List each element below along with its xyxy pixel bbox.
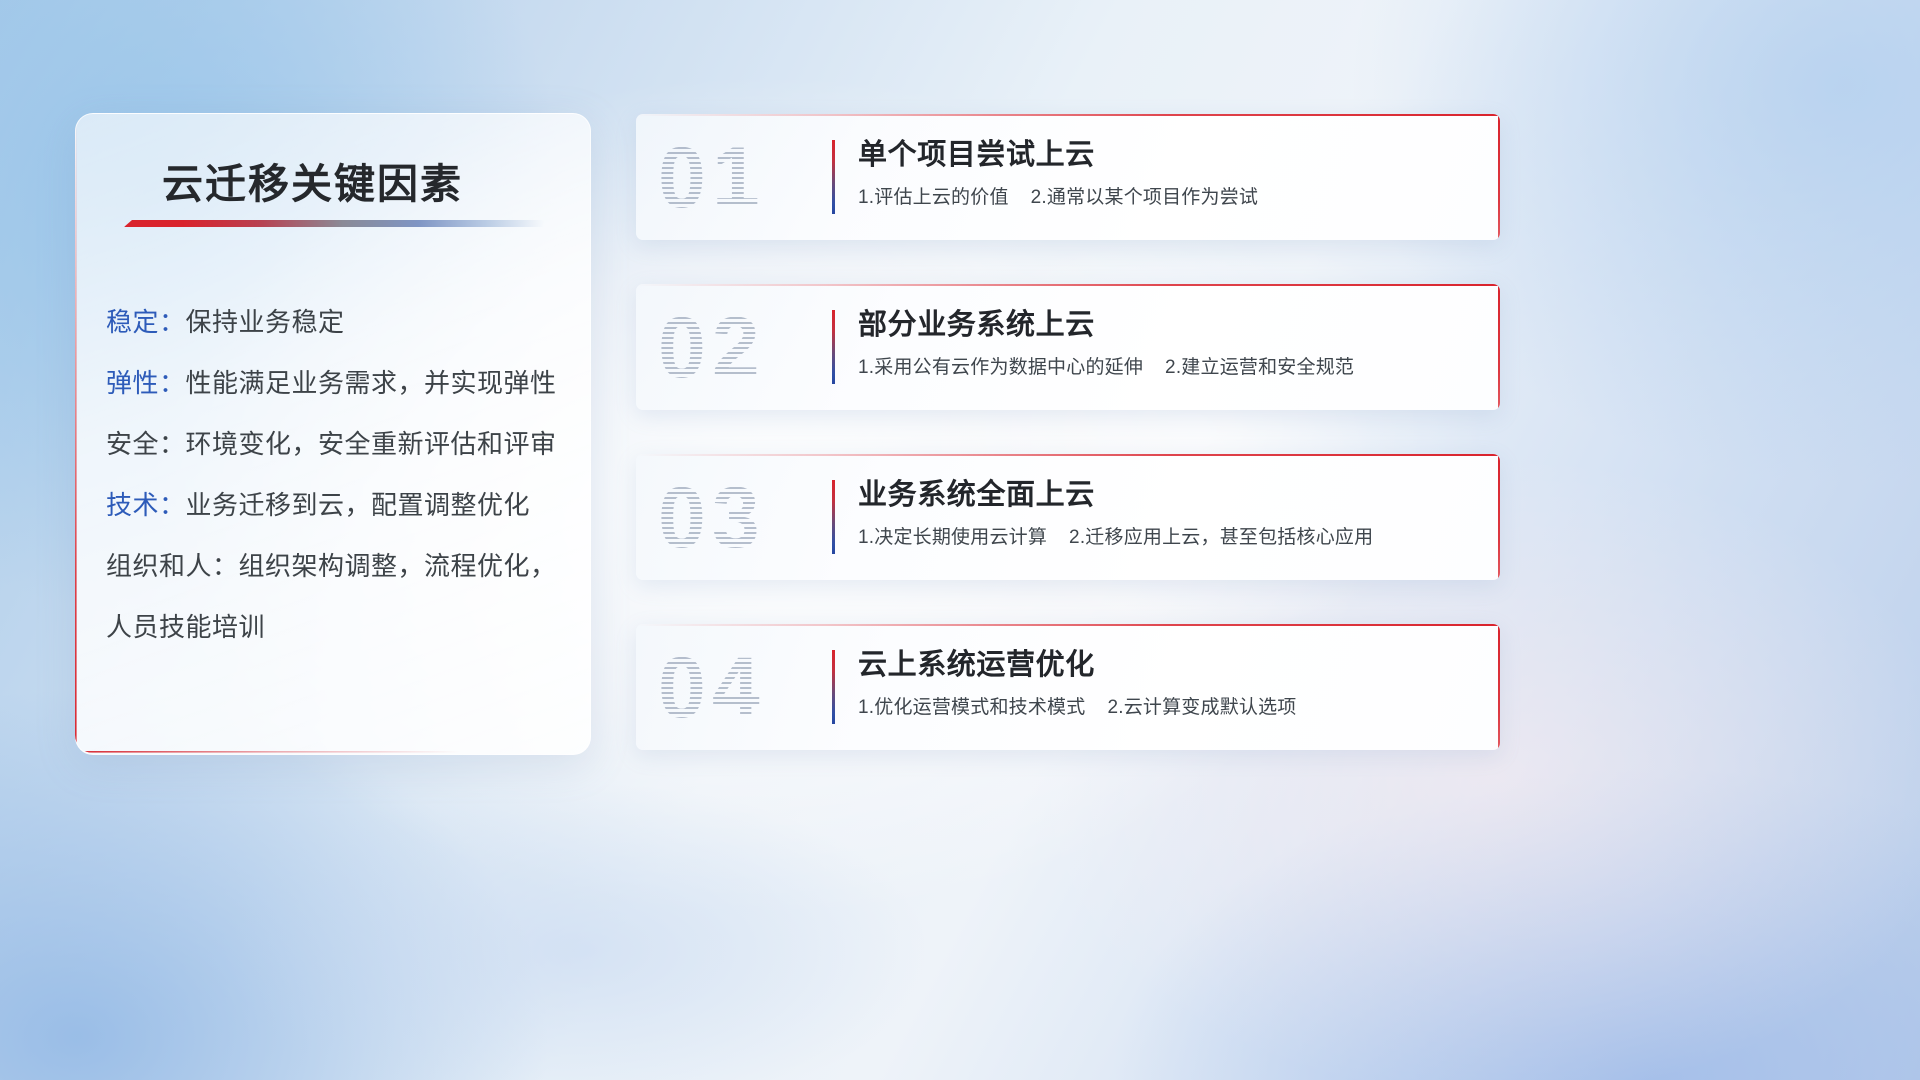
accent-bar (832, 310, 835, 384)
stage-desc-item-1: 1.评估上云的价值 (858, 187, 1009, 208)
stage-title: 部分业务系统上云 (858, 304, 1474, 346)
stage-description: 1.决定长期使用云计算2.迁移应用上云，甚至包括核心应用 (858, 525, 1474, 551)
stage-title: 云上系统运营优化 (858, 644, 1474, 686)
list-item-label: 组织和人： (106, 551, 239, 581)
stage-number: 01 (658, 122, 808, 234)
stage-number: 02 (658, 292, 808, 404)
list-item-text: 保持业务稳定 (186, 307, 345, 337)
accent-bar (832, 650, 835, 724)
list-item: 稳定：保持业务稳定 (106, 292, 564, 353)
list-item-label: 稳定： (106, 307, 186, 337)
stage-desc-item-1: 1.优化运营模式和技术模式 (858, 697, 1085, 718)
stage-card-body: 单个项目尝试上云 1.评估上云的价值2.通常以某个项目作为尝试 (858, 134, 1474, 211)
stage-desc-item-1: 1.决定长期使用云计算 (858, 527, 1047, 548)
stage-description: 1.优化运营模式和技术模式2.云计算变成默认选项 (858, 695, 1474, 721)
stage-desc-item-2: 2.通常以某个项目作为尝试 (1031, 187, 1258, 208)
stage-card-body: 业务系统全面上云 1.决定长期使用云计算2.迁移应用上云，甚至包括核心应用 (858, 474, 1474, 551)
list-item-text: 人员技能培训 (106, 612, 265, 642)
list-item-text: 环境变化，安全重新评估和评审 (186, 429, 557, 459)
page-title: 云迁移关键因素 (162, 150, 463, 210)
accent-bar (832, 140, 835, 214)
stage-card-body: 部分业务系统上云 1.采用公有云作为数据中心的延伸2.建立运营和安全规范 (858, 304, 1474, 381)
stage-card[interactable]: 03 业务系统全面上云 1.决定长期使用云计算2.迁移应用上云，甚至包括核心应用 (636, 454, 1500, 580)
accent-bar (832, 480, 835, 554)
key-factors-panel: 云迁移关键因素 稳定：保持业务稳定 弹性：性能满足业务需求，并实现弹性 安全：环… (75, 113, 591, 755)
stage-number: 04 (658, 632, 808, 744)
list-item-label: 弹性： (106, 368, 186, 398)
list-item: 安全：环境变化，安全重新评估和评审 (106, 414, 564, 475)
stage-number: 03 (658, 462, 808, 574)
stage-card-list: 01 单个项目尝试上云 1.评估上云的价值2.通常以某个项目作为尝试 02 部分… (636, 114, 1500, 794)
list-item: 组织和人：组织架构调整，流程优化， (106, 536, 564, 597)
stage-card[interactable]: 02 部分业务系统上云 1.采用公有云作为数据中心的延伸2.建立运营和安全规范 (636, 284, 1500, 410)
list-item: 技术：业务迁移到云，配置调整优化 (106, 475, 564, 536)
stage-desc-item-2: 2.云计算变成默认选项 (1107, 697, 1296, 718)
stage-desc-item-2: 2.迁移应用上云，甚至包括核心应用 (1069, 527, 1373, 548)
stage-description: 1.采用公有云作为数据中心的延伸2.建立运营和安全规范 (858, 355, 1474, 381)
stage-title: 单个项目尝试上云 (858, 134, 1474, 176)
title-underline-rule (124, 220, 544, 227)
list-item-label: 安全： (106, 429, 186, 459)
key-factors-list: 稳定：保持业务稳定 弹性：性能满足业务需求，并实现弹性 安全：环境变化，安全重新… (106, 292, 564, 658)
list-item-continuation: 人员技能培训 (106, 597, 564, 658)
list-item-text: 组织架构调整，流程优化， (239, 551, 557, 581)
stage-desc-item-2: 2.建立运营和安全规范 (1165, 357, 1354, 378)
list-item-text: 性能满足业务需求，并实现弹性 (186, 368, 557, 398)
stage-title: 业务系统全面上云 (858, 474, 1474, 516)
stage-card[interactable]: 04 云上系统运营优化 1.优化运营模式和技术模式2.云计算变成默认选项 (636, 624, 1500, 750)
list-item-label: 技术： (106, 490, 186, 520)
stage-card[interactable]: 01 单个项目尝试上云 1.评估上云的价值2.通常以某个项目作为尝试 (636, 114, 1500, 240)
stage-desc-item-1: 1.采用公有云作为数据中心的延伸 (858, 357, 1143, 378)
list-item: 弹性：性能满足业务需求，并实现弹性 (106, 353, 564, 414)
stage-card-body: 云上系统运营优化 1.优化运营模式和技术模式2.云计算变成默认选项 (858, 644, 1474, 721)
stage-description: 1.评估上云的价值2.通常以某个项目作为尝试 (858, 185, 1474, 211)
list-item-text: 业务迁移到云，配置调整优化 (186, 490, 531, 520)
